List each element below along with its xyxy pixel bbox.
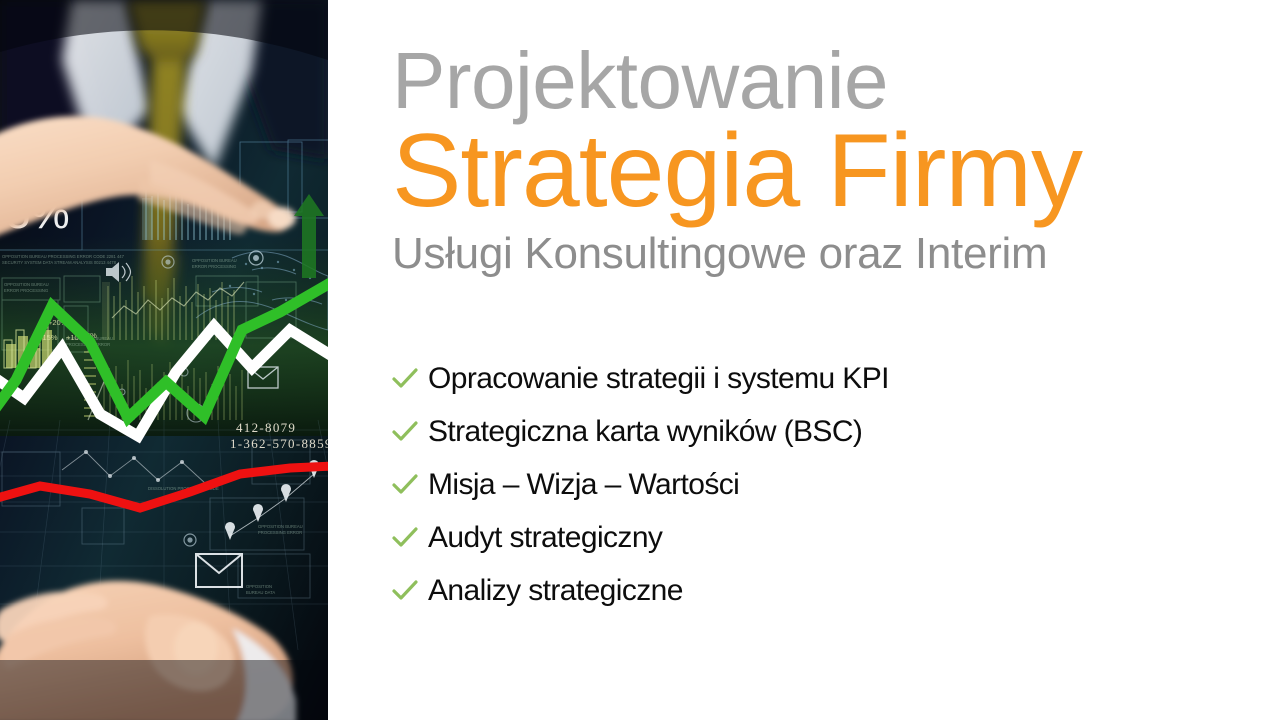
slide: 5% <box>0 0 1280 720</box>
svg-text:OPPOSITION BUREAU: OPPOSITION BUREAU <box>258 524 303 529</box>
svg-text:ERROR PROCESSING: ERROR PROCESSING <box>192 264 236 269</box>
overlay-number-top: 412-8079 <box>236 420 296 435</box>
check-icon <box>392 474 428 496</box>
svg-text:OPPOSITION: OPPOSITION <box>246 584 272 589</box>
list-item-label: Opracowanie strategii i systemu KPI <box>428 362 889 396</box>
hero-image: 5% <box>0 0 328 720</box>
overlay-number-bottom: 1-362-570-8859 <box>230 436 328 451</box>
svg-text:BUREAU DATA: BUREAU DATA <box>246 590 275 595</box>
list-item: Opracowanie strategii i systemu KPI <box>392 362 1252 415</box>
svg-text:SECURITY SYSTEM DATA STREAM AN: SECURITY SYSTEM DATA STREAM ANALYSIS 002… <box>2 260 117 265</box>
list-item: Audyt strategiczny <box>392 521 1252 574</box>
check-icon <box>392 421 428 443</box>
list-item: Strategiczna karta wyników (BSC) <box>392 415 1252 468</box>
page-title-line1: Projektowanie <box>392 38 1272 124</box>
svg-text:OPPOSITION BUREAU: OPPOSITION BUREAU <box>4 282 49 287</box>
list-item-label: Analizy strategiczne <box>428 574 683 608</box>
page-subtitle: Usługi Konsultingowe oraz Interim <box>392 228 1272 280</box>
list-item: Analizy strategiczne <box>392 574 1252 627</box>
svg-text:OPPOSITION BUREAU: OPPOSITION BUREAU <box>192 258 237 263</box>
title-block: Projektowanie Strategia Firmy Usługi Kon… <box>392 38 1272 280</box>
list-item-label: Misja – Wizja – Wartości <box>428 468 739 502</box>
list-item-label: Audyt strategiczny <box>428 521 662 555</box>
page-title-line2: Strategia Firmy <box>392 118 1272 224</box>
check-icon <box>392 580 428 602</box>
svg-text:ERROR PROCESSING: ERROR PROCESSING <box>4 288 48 293</box>
svg-text:OPPOSITION BUREAU PROCESSING: OPPOSITION BUREAU PROCESSING ERROR CODE … <box>2 254 125 259</box>
check-icon <box>392 368 428 390</box>
svg-text:PROCESSING ERROR: PROCESSING ERROR <box>258 530 302 535</box>
hero-image-graphic: 5% <box>0 0 328 720</box>
list-item: Misja – Wizja – Wartości <box>392 468 1252 521</box>
bullet-list: Opracowanie strategii i systemu KPI Stra… <box>392 362 1252 627</box>
list-item-label: Strategiczna karta wyników (BSC) <box>428 415 862 449</box>
check-icon <box>392 527 428 549</box>
content-panel: Projektowanie Strategia Firmy Usługi Kon… <box>328 0 1280 720</box>
